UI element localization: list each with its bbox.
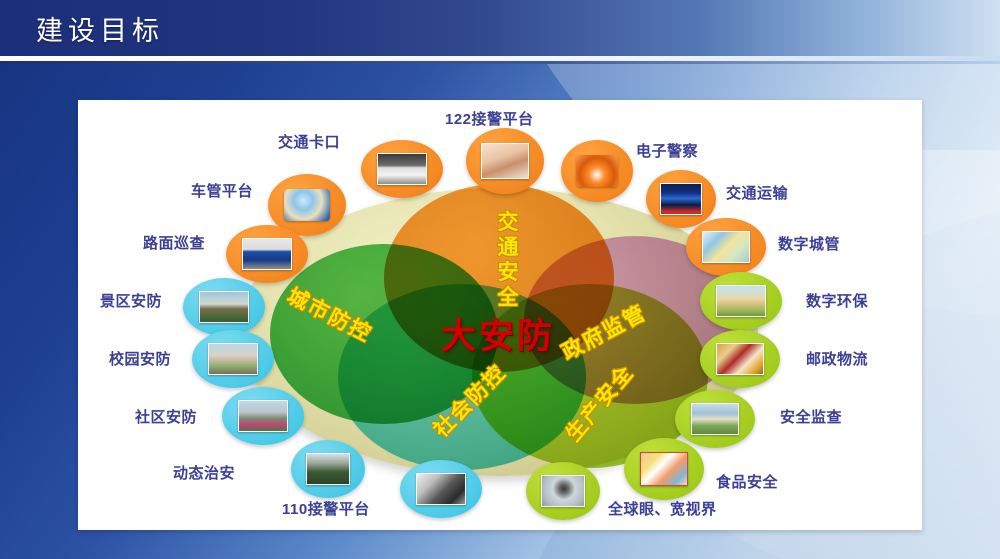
bubble-postal-logistics[interactable] (700, 330, 780, 388)
content-panel: 交通安全 城市防控 社会防控 生产安全 政府监管 大安防 122接警平台 交通卡… (78, 100, 922, 530)
satellite-label-110-platform: 110接警平台 (282, 498, 370, 519)
bubble-campus-security[interactable] (192, 330, 274, 388)
satellite-label-global-eye: 全球眼、宽视界 (608, 498, 717, 519)
satellite-label-transport: 交通运输 (726, 182, 788, 203)
environment-icon (716, 285, 766, 317)
satellite-label-vehicle-admin: 车管平台 (191, 180, 253, 201)
postal-logistics-icon (716, 343, 764, 375)
satellite-label-campus-security: 校园安防 (109, 348, 171, 369)
title-underline-shadow (0, 61, 1000, 64)
transport-sign-icon (660, 183, 703, 215)
bubble-122-platform[interactable] (466, 128, 544, 194)
bubble-global-eye[interactable] (526, 462, 600, 520)
bubble-e-police[interactable] (561, 140, 633, 202)
bubble-digital-environment[interactable] (700, 272, 782, 330)
bubble-digital-city[interactable] (686, 218, 766, 276)
bubble-food-safety[interactable] (624, 438, 704, 500)
police-car-icon (242, 238, 292, 270)
community-icon (238, 400, 288, 432)
call-center-icon (416, 473, 466, 505)
bubble-transport[interactable] (646, 170, 716, 228)
bubble-dynamic-policing[interactable] (291, 440, 365, 498)
car-photo-icon (377, 153, 427, 185)
operator-photo-icon (481, 143, 528, 179)
traffic-cone-icon (576, 155, 618, 187)
satellite-label-postal-logistics: 邮政物流 (806, 348, 868, 369)
food-safety-icon (640, 452, 688, 486)
bubble-safety-inspection[interactable] (675, 390, 755, 448)
magnifier-map-icon (284, 189, 329, 221)
camera-pole-icon (306, 453, 351, 485)
page-title: 建设目标 (36, 9, 164, 48)
campus-icon (208, 343, 258, 375)
bubble-traffic-checkpoint[interactable] (361, 140, 443, 198)
bubble-scenic-security[interactable] (183, 278, 265, 336)
safety-inspection-icon (691, 403, 739, 435)
satellite-label-dynamic-policing: 动态治安 (173, 462, 235, 483)
pagoda-scenic-icon (199, 291, 249, 323)
satellite-label-digital-environment: 数字环保 (806, 290, 868, 311)
satellite-label-scenic-security: 景区安防 (100, 290, 162, 311)
digital-city-icon (702, 231, 750, 263)
presentation-slide: 建设目标 交通安全 城市防控 社会防控 生产安全 政府监管 大安防 122接警平… (0, 0, 1000, 559)
dome-camera-icon (541, 475, 586, 507)
venn-center-label: 大安防 (441, 308, 555, 359)
bubble-community-security[interactable] (222, 387, 304, 445)
satellite-label-road-patrol: 路面巡查 (143, 232, 205, 253)
bubble-road-patrol[interactable] (226, 225, 308, 283)
bubble-110-platform[interactable] (400, 460, 482, 518)
satellite-label-122-platform: 122接警平台 (445, 108, 534, 129)
satellite-label-digital-city: 数字城管 (778, 233, 840, 254)
satellite-label-e-police: 电子警察 (636, 140, 698, 161)
satellite-label-food-safety: 食品安全 (716, 471, 778, 492)
satellite-label-safety-inspection: 安全监查 (780, 406, 842, 427)
satellite-label-community-security: 社区安防 (135, 406, 197, 427)
satellite-label-traffic-checkpoint: 交通卡口 (278, 131, 340, 152)
